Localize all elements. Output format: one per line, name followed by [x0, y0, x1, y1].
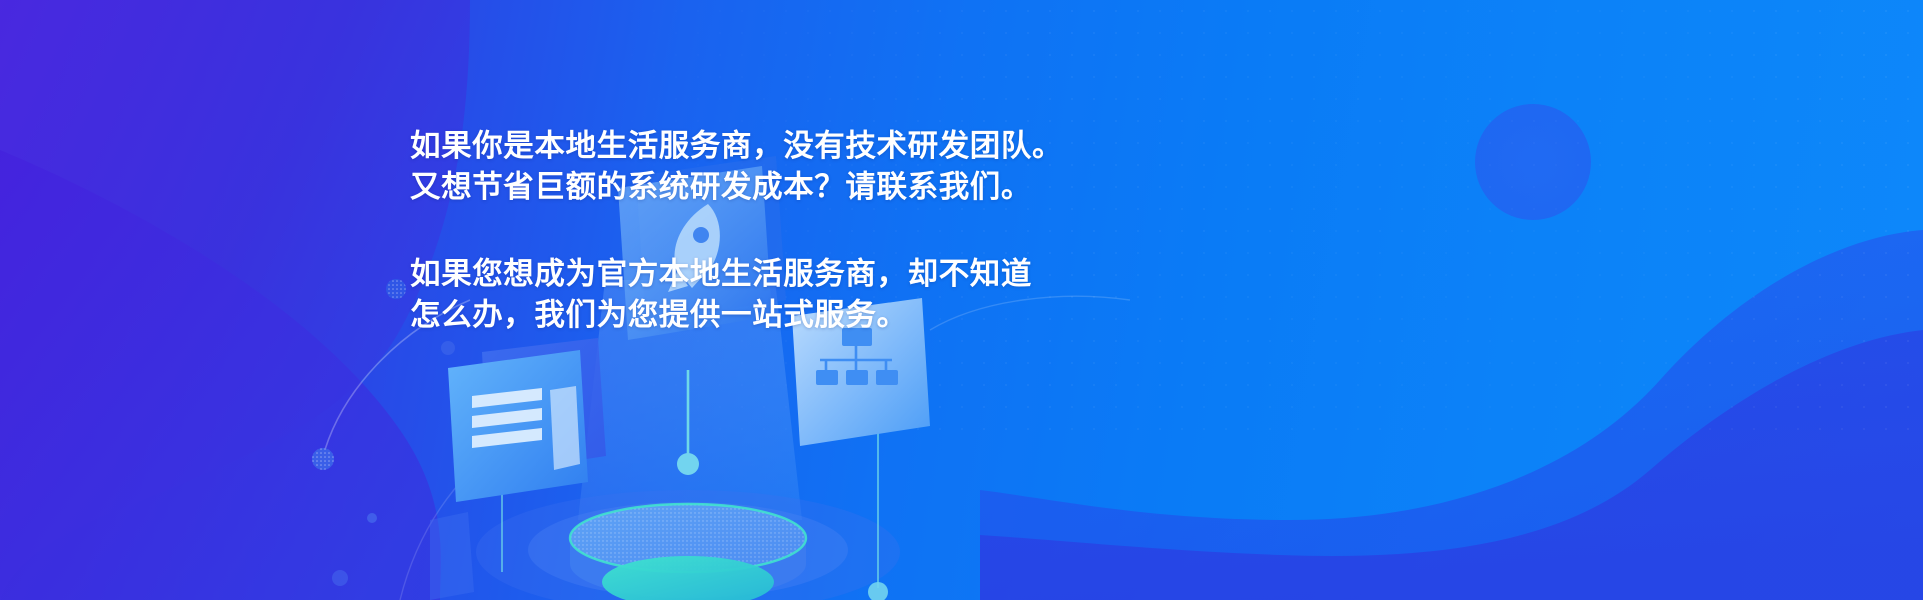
stem-center-node	[677, 453, 699, 475]
panel-hint-left	[430, 512, 474, 600]
headline-copy-block: 如果你是本地生活服务商，没有技术研发团队。 又想节省巨额的系统研发成本？请联系我…	[410, 126, 1063, 336]
wave-left-back	[0, 0, 470, 600]
document-card	[448, 350, 588, 502]
stem-right-node	[868, 582, 888, 600]
dot-small-a-tex	[312, 448, 334, 470]
paragraph-1-line-1: 如果你是本地生活服务商，没有技术研发团队。	[410, 126, 1063, 167]
dot-small-b-tex	[386, 279, 406, 299]
dot-small-e	[332, 570, 348, 586]
paragraph-2-line-1: 如果您想成为官方本地生活服务商，却不知道	[410, 254, 1063, 295]
dot-small-a	[312, 448, 334, 470]
paragraph-2-line-2: 怎么办，我们为您提供一站式服务。	[410, 295, 1063, 336]
wave-left-front	[0, 150, 441, 600]
promo-hero-banner: 如果你是本地生活服务商，没有技术研发团队。 又想节省巨额的系统研发成本？请联系我…	[0, 0, 1923, 600]
paragraph-1-line-2: 又想节省巨额的系统研发成本？请联系我们。	[410, 167, 1063, 208]
dot-small-b	[386, 279, 406, 299]
paragraph-1: 如果你是本地生活服务商，没有技术研发团队。 又想节省巨额的系统研发成本？请联系我…	[410, 126, 1063, 208]
paragraph-2: 如果您想成为官方本地生活服务商，却不知道 怎么办，我们为您提供一站式服务。	[410, 254, 1063, 336]
dot-small-d	[367, 513, 377, 523]
